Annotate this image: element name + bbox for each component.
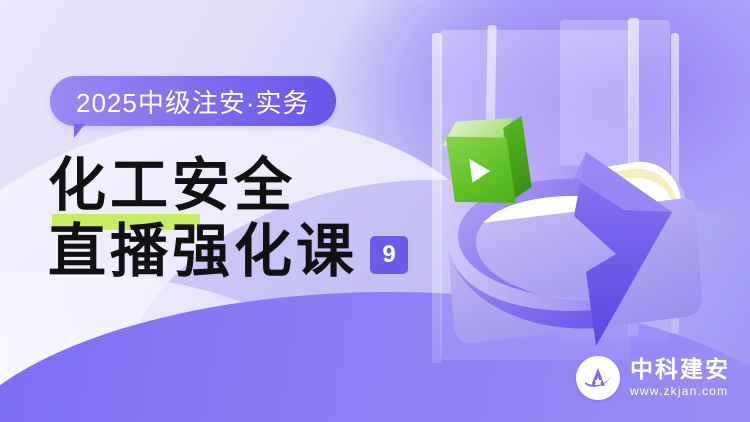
brand-logo: 中科建安 www.zkjan.com <box>576 356 730 400</box>
title-line-1: 化工安全 <box>48 152 468 218</box>
mountain-swoosh-icon <box>581 361 615 395</box>
title-line-2: 直播强化课 <box>48 218 358 284</box>
brand-url: www.zkjan.com <box>630 385 730 398</box>
play-triangle-icon <box>469 159 492 183</box>
episode-number-badge: 9 <box>370 236 408 274</box>
brand-name: 中科建安 <box>630 358 730 383</box>
brand-logo-mark-icon <box>576 356 620 400</box>
badge-tail <box>74 124 96 138</box>
title-block: 化工安全 直播强化课 9 <box>48 152 468 284</box>
course-category-label: 2025中级注安·实务 <box>76 83 310 120</box>
title-line-2-row: 直播强化课 9 <box>48 218 468 284</box>
brand-text: 中科建安 www.zkjan.com <box>630 358 730 398</box>
course-poster: 2025中级注安·实务 化工安全 直播强化课 9 中科建安 www.zkjan.… <box>0 0 750 422</box>
course-category-badge: 2025中级注安·实务 <box>50 76 336 126</box>
